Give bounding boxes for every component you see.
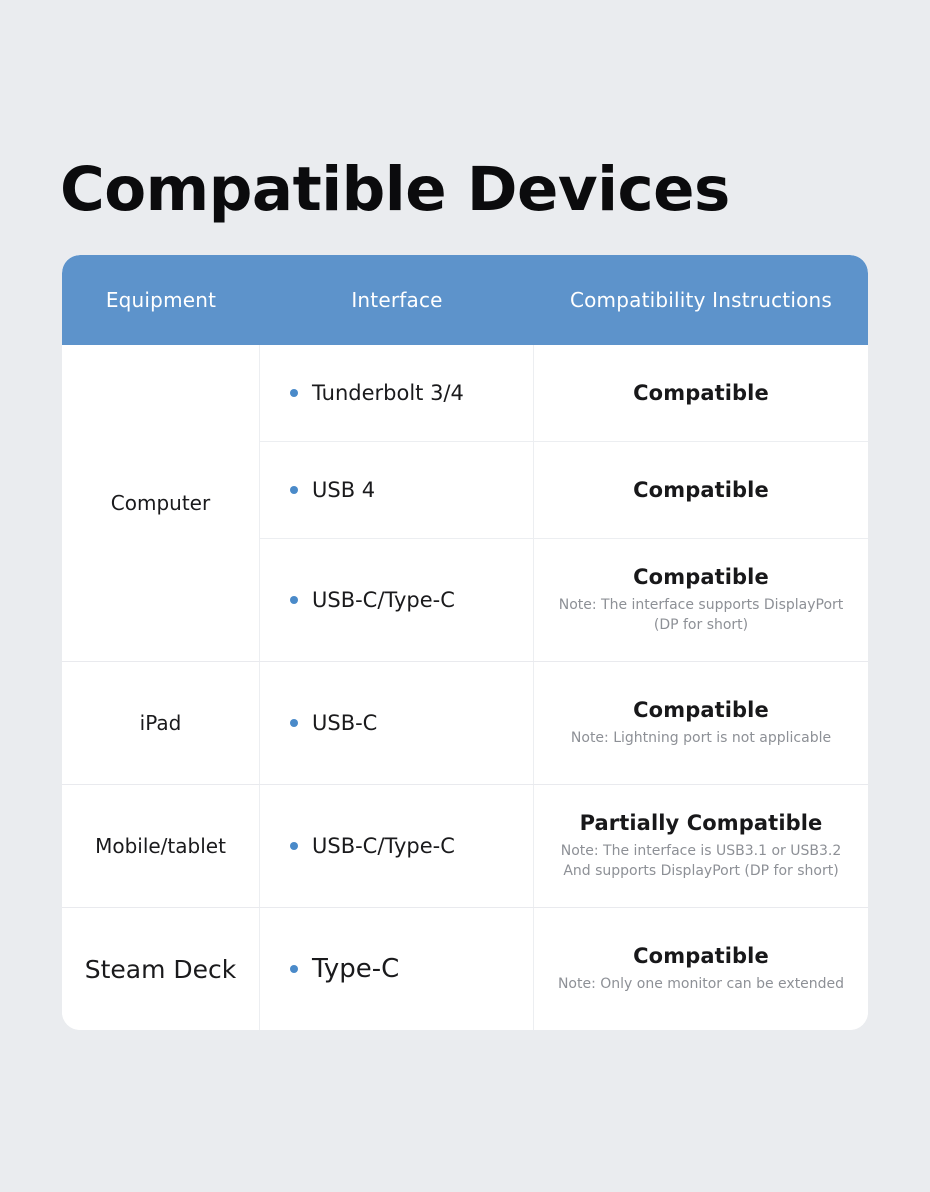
status-badge: Compatible [633,565,769,589]
bullet-icon [290,719,298,727]
equipment-cell: iPad [62,662,260,784]
status-badge: Compatible [633,478,769,502]
table-group-steam-deck: Steam Deck Type-C Compatible Note: Only … [62,907,868,1030]
bullet-icon [290,596,298,604]
compatibility-page: Compatible Devices Equipment Interface C… [0,0,930,1192]
equipment-cell: Computer [62,345,260,661]
bullet-icon [290,486,298,494]
table-row: Tunderbolt 3/4 Compatible [260,345,868,441]
compatibility-note: Note: The interface supports DisplayPort… [549,596,854,635]
compatibility-cell: Compatible Note: Lightning port is not a… [534,662,868,784]
table-group-computer: Computer Tunderbolt 3/4 Compatible [62,345,868,661]
status-badge: Compatible [633,381,769,405]
column-header-compatibility: Compatibility Instructions [534,255,868,345]
equipment-cell: Mobile/tablet [62,785,260,907]
compatibility-note: Note: The interface is USB3.1 or USB3.2 … [549,842,854,881]
interface-cell: Tunderbolt 3/4 [260,345,534,441]
interface-label: Type-C [312,954,399,984]
compatibility-cell: Compatible [534,442,868,538]
interface-label: USB 4 [312,478,375,502]
table-group-mobile-tablet: Mobile/tablet USB-C/Type-C Partially Com… [62,784,868,907]
interface-label: USB-C/Type-C [312,834,455,858]
interface-cell: USB-C [260,662,534,784]
column-header-interface: Interface [260,255,534,345]
bullet-icon [290,842,298,850]
status-badge: Compatible [633,698,769,722]
interface-label: Tunderbolt 3/4 [312,381,464,405]
page-title: Compatible Devices [60,159,730,220]
interface-cell: USB-C/Type-C [260,785,534,907]
table-row: Type-C Compatible Note: Only one monitor… [260,908,868,1030]
compatibility-cell: Compatible Note: Only one monitor can be… [534,908,868,1030]
compatible-devices-table: Equipment Interface Compatibility Instru… [62,255,868,1030]
interface-label: USB-C [312,711,377,735]
status-badge: Compatible [633,944,769,968]
group-rows: Type-C Compatible Note: Only one monitor… [260,908,868,1030]
table-row: USB-C/Type-C Partially Compatible Note: … [260,785,868,907]
compatibility-cell: Partially Compatible Note: The interface… [534,785,868,907]
interface-cell: USB 4 [260,442,534,538]
status-badge: Partially Compatible [580,811,823,835]
table-header-row: Equipment Interface Compatibility Instru… [62,255,868,345]
group-rows: USB-C Compatible Note: Lightning port is… [260,662,868,784]
compatibility-note: Note: Only one monitor can be extended [558,975,844,994]
table-row: USB-C/Type-C Compatible Note: The interf… [260,538,868,661]
compatibility-note: Note: Lightning port is not applicable [571,729,831,748]
equipment-cell: Steam Deck [62,908,260,1030]
group-rows: USB-C/Type-C Partially Compatible Note: … [260,785,868,907]
group-rows: Tunderbolt 3/4 Compatible USB 4 Compatib… [260,345,868,661]
compatibility-cell: Compatible Note: The interface supports … [534,539,868,661]
bullet-icon [290,389,298,397]
table-row: USB 4 Compatible [260,441,868,538]
column-header-equipment: Equipment [62,255,260,345]
table-row: USB-C Compatible Note: Lightning port is… [260,662,868,784]
interface-label: USB-C/Type-C [312,588,455,612]
interface-cell: Type-C [260,908,534,1030]
table-group-ipad: iPad USB-C Compatible Note: Lightning po… [62,661,868,784]
table-body: Computer Tunderbolt 3/4 Compatible [62,345,868,1030]
bullet-icon [290,965,298,973]
compatibility-cell: Compatible [534,345,868,441]
interface-cell: USB-C/Type-C [260,539,534,661]
